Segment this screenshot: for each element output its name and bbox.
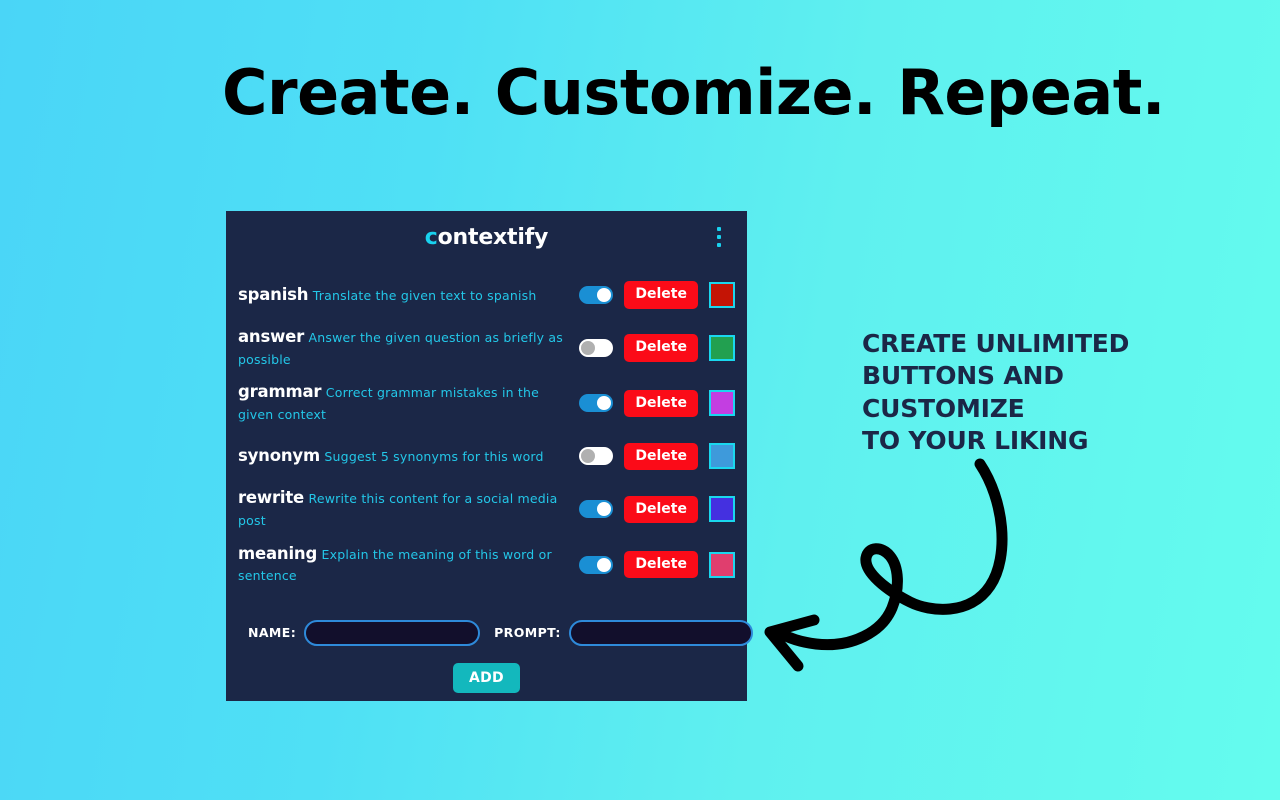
- enable-toggle[interactable]: [579, 500, 613, 518]
- promo-text: CREATE UNLIMITED BUTTONS AND CUSTOMIZE T…: [862, 328, 1129, 457]
- page-title: Create. Customize. Repeat.: [222, 56, 1165, 129]
- enable-toggle[interactable]: [579, 286, 613, 304]
- prompt-text: meaning Explain the meaning of this word…: [238, 543, 579, 587]
- row-controls: Delete: [579, 496, 735, 523]
- toggle-knob: [597, 502, 611, 516]
- kebab-dot: [717, 227, 721, 231]
- contextify-extension-panel: contextify spanish Translate the given t…: [226, 211, 747, 701]
- color-swatch[interactable]: [709, 496, 735, 522]
- color-swatch[interactable]: [709, 282, 735, 308]
- list-item: rewrite Rewrite this content for a socia…: [238, 487, 735, 531]
- prompt-text: rewrite Rewrite this content for a socia…: [238, 487, 579, 531]
- kebab-dot: [717, 243, 721, 247]
- curly-arrow-icon: [752, 452, 1022, 682]
- list-item: grammar Correct grammar mistakes in the …: [238, 381, 735, 425]
- row-controls: Delete: [579, 334, 735, 361]
- toggle-knob: [597, 396, 611, 410]
- delete-button[interactable]: Delete: [624, 281, 698, 308]
- prompt-description: Suggest 5 synonyms for this word: [324, 449, 543, 464]
- logo-rest: ontextify: [438, 225, 549, 250]
- delete-button[interactable]: Delete: [624, 551, 698, 578]
- toggle-knob: [581, 449, 595, 463]
- enable-toggle[interactable]: [579, 447, 613, 465]
- color-swatch[interactable]: [709, 552, 735, 578]
- enable-toggle[interactable]: [579, 339, 613, 357]
- name-label: NAME:: [248, 625, 296, 640]
- list-item: synonym Suggest 5 synonyms for this word…: [238, 436, 735, 476]
- add-prompt-form: NAME: PROMPT:: [226, 598, 747, 646]
- delete-button[interactable]: Delete: [624, 390, 698, 417]
- prompt-list: spanish Translate the given text to span…: [226, 263, 747, 587]
- kebab-menu-icon[interactable]: [713, 223, 725, 251]
- list-item: spanish Translate the given text to span…: [238, 275, 735, 315]
- name-input[interactable]: [304, 620, 480, 646]
- row-controls: Delete: [579, 551, 735, 578]
- delete-button[interactable]: Delete: [624, 443, 698, 470]
- add-button[interactable]: ADD: [453, 663, 520, 693]
- row-controls: Delete: [579, 443, 735, 470]
- prompt-text: answer Answer the given question as brie…: [238, 326, 579, 370]
- app-logo: contextify: [425, 225, 548, 250]
- color-swatch[interactable]: [709, 335, 735, 361]
- prompt-name: answer: [238, 327, 304, 346]
- prompt-name: spanish: [238, 285, 308, 304]
- logo-lead-letter: c: [425, 225, 438, 250]
- toggle-knob: [581, 341, 595, 355]
- row-controls: Delete: [579, 281, 735, 308]
- prompt-label: PROMPT:: [494, 625, 561, 640]
- add-button-wrap: ADD: [226, 663, 747, 693]
- prompt-text: spanish Translate the given text to span…: [238, 284, 579, 307]
- toggle-knob: [597, 558, 611, 572]
- prompt-text: synonym Suggest 5 synonyms for this word: [238, 445, 579, 468]
- prompt-name: grammar: [238, 382, 321, 401]
- prompt-input[interactable]: [569, 620, 753, 646]
- color-swatch[interactable]: [709, 390, 735, 416]
- enable-toggle[interactable]: [579, 556, 613, 574]
- prompt-description: Translate the given text to spanish: [313, 288, 537, 303]
- kebab-dot: [717, 235, 721, 239]
- color-swatch[interactable]: [709, 443, 735, 469]
- prompt-text: grammar Correct grammar mistakes in the …: [238, 381, 579, 425]
- prompt-name: synonym: [238, 446, 320, 465]
- enable-toggle[interactable]: [579, 394, 613, 412]
- card-header: contextify: [226, 211, 747, 263]
- list-item: meaning Explain the meaning of this word…: [238, 543, 735, 587]
- prompt-name: rewrite: [238, 488, 304, 507]
- prompt-name: meaning: [238, 544, 317, 563]
- row-controls: Delete: [579, 390, 735, 417]
- delete-button[interactable]: Delete: [624, 334, 698, 361]
- delete-button[interactable]: Delete: [624, 496, 698, 523]
- list-item: answer Answer the given question as brie…: [238, 326, 735, 370]
- toggle-knob: [597, 288, 611, 302]
